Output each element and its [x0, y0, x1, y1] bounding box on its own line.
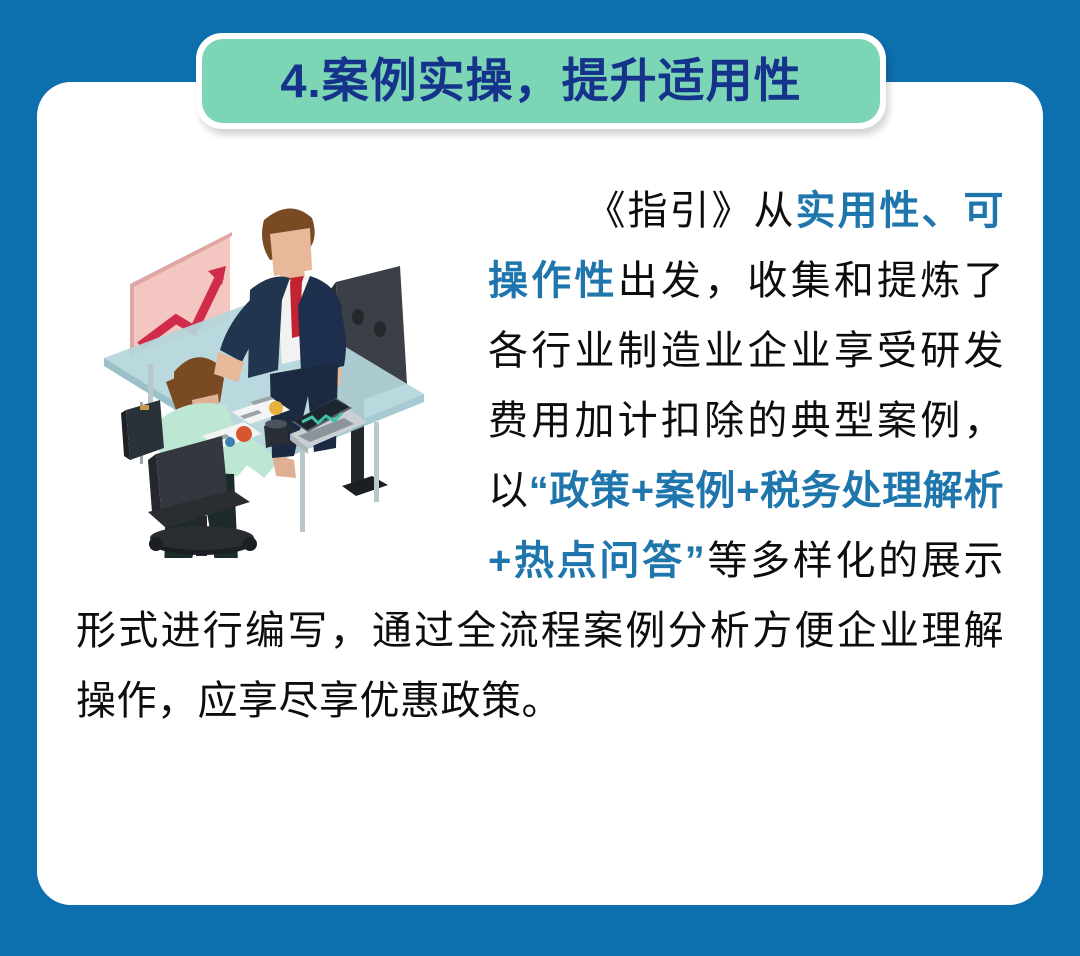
page-title: 4.案例实操，提升适用性	[280, 57, 801, 104]
body-segment-0: 《指引》从	[584, 189, 796, 233]
illustration-text-wrap-spacer	[76, 176, 488, 566]
body-paragraph: 《指引》从实用性、可操作性出发，收集和提炼了各行业制造业企业享受研发费用加计扣除…	[76, 176, 1004, 736]
title-badge: 4.案例实操，提升适用性	[196, 33, 886, 129]
poster-root: 4.案例实操，提升适用性	[0, 0, 1080, 956]
title-badge-fill: 4.案例实操，提升适用性	[202, 39, 880, 123]
